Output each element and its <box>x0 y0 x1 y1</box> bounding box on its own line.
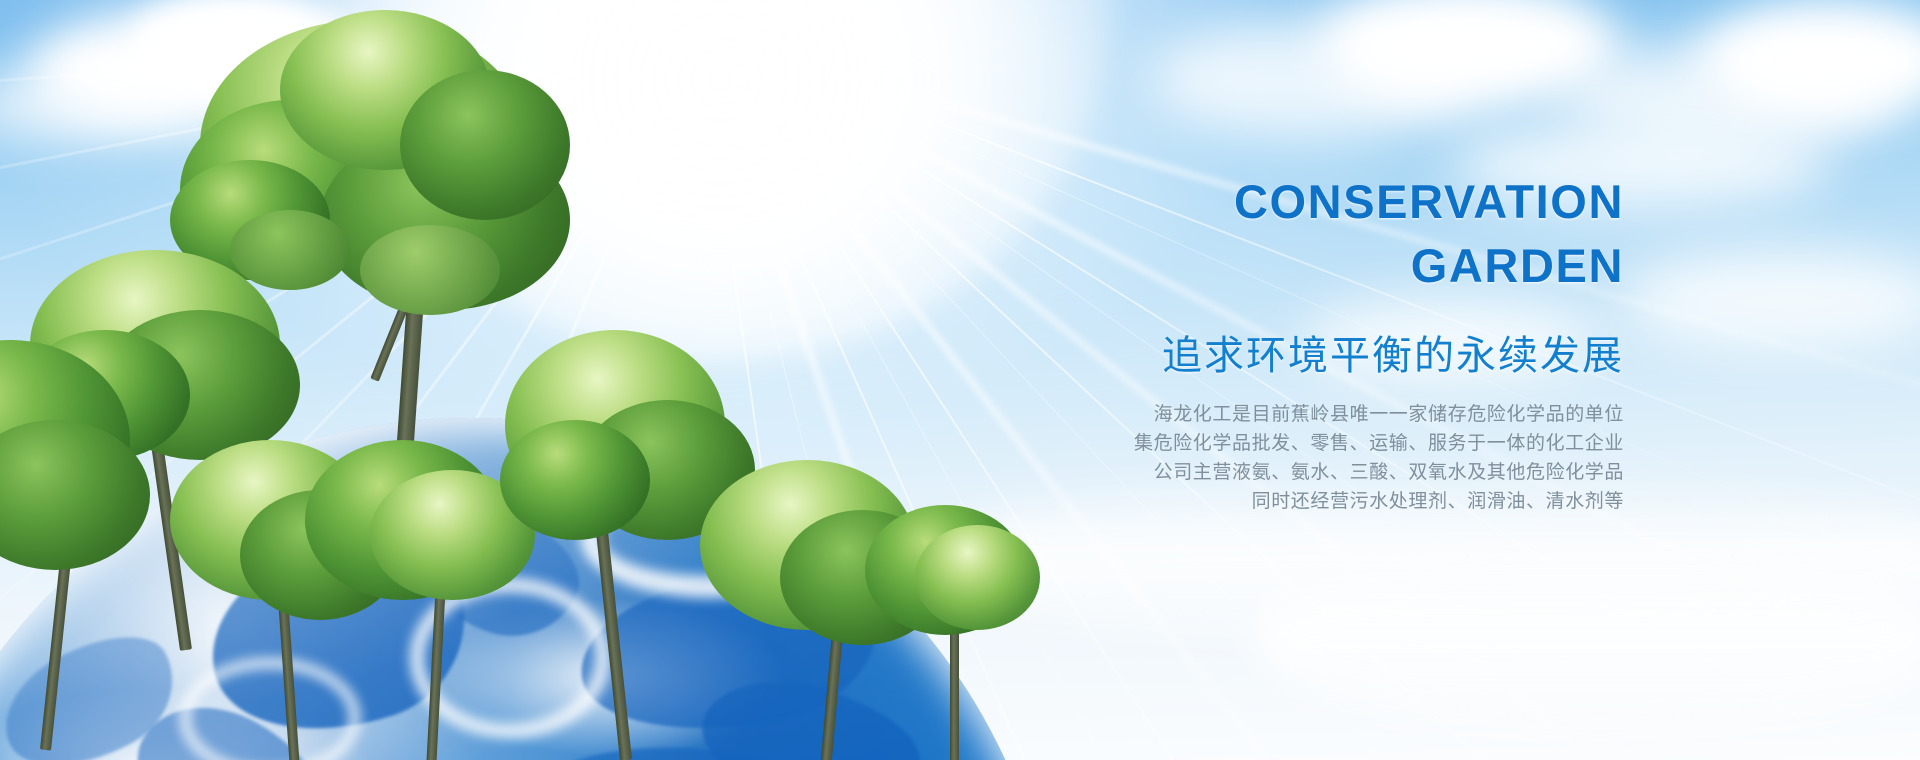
tree-far-left <box>0 330 170 750</box>
headline-line-2: GARDEN <box>864 234 1624 298</box>
headline-line-1: CONSERVATION <box>864 170 1624 234</box>
description-line-3: 公司主营液氨、氨水、三酸、双氧水及其他危险化学品 <box>864 458 1624 487</box>
tagline: 追求环境平衡的永续发展 <box>864 330 1624 382</box>
description-line-2: 集危险化学品批发、零售、运输、服务于一体的化工企业 <box>864 429 1624 458</box>
banner-copy: CONSERVATION GARDEN 追求环境平衡的永续发展 海龙化工是目前蕉… <box>864 170 1624 516</box>
description-block: 海龙化工是目前蕉岭县唯一一家储存危险化学品的单位 集危险化学品批发、零售、运输、… <box>864 400 1624 516</box>
tree-far-right <box>855 505 1045 760</box>
hero-banner: CONSERVATION GARDEN 追求环境平衡的永续发展 海龙化工是目前蕉… <box>0 0 1920 760</box>
description-line-1: 海龙化工是目前蕉岭县唯一一家储存危险化学品的单位 <box>864 400 1624 429</box>
description-line-4: 同时还经营污水处理剂、润滑油、清水剂等 <box>864 487 1624 516</box>
